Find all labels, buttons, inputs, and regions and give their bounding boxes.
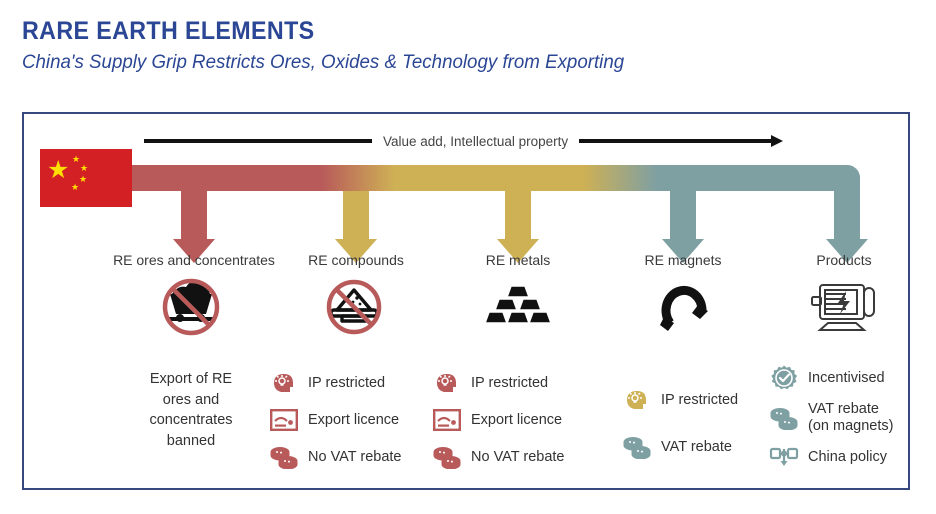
policy-stamp-icon bbox=[769, 443, 799, 471]
detail-item-vat-rebate-magnets: VAT rebate (on magnets) bbox=[769, 401, 893, 434]
check-badge-icon bbox=[769, 364, 799, 392]
detail-label-multiline: VAT rebate (on magnets) bbox=[808, 401, 893, 434]
axis-label: Value add, Intellectual property bbox=[372, 134, 579, 149]
detail-item-china-policy: China policy bbox=[769, 443, 893, 471]
licence-card-icon bbox=[269, 406, 299, 434]
products-detail-column: Incentivised VAT rebate (on magnets) bbox=[769, 364, 893, 480]
detail-label: IP restricted bbox=[308, 375, 385, 392]
flag-star-small-3: ★ bbox=[79, 175, 87, 184]
detail-item-incentivised: Incentivised bbox=[769, 364, 893, 392]
detail-label: No VAT rebate bbox=[471, 449, 565, 466]
detail-item-export-licence: Export licence bbox=[432, 406, 565, 434]
head-lightbulb-icon bbox=[432, 369, 462, 397]
detail-label: Incentivised bbox=[808, 370, 885, 387]
page-title: RARE EARTH ELEMENTS bbox=[22, 18, 850, 44]
stage-label-ores: RE ores and concentrates bbox=[113, 252, 275, 268]
coins-icon bbox=[622, 433, 652, 461]
head-lightbulb-icon bbox=[622, 386, 652, 414]
ores-restriction-line-1: Export of RE bbox=[126, 369, 256, 390]
detail-label: No VAT rebate bbox=[308, 449, 402, 466]
detail-label: VAT rebate bbox=[661, 439, 732, 456]
detail-item-ip-restricted: IP restricted bbox=[269, 369, 402, 397]
flag-star-small-4: ★ bbox=[71, 183, 79, 192]
stage-label-compounds: RE compounds bbox=[308, 252, 404, 268]
detail-item-ip-restricted: IP restricted bbox=[622, 386, 738, 414]
detail-item-no-vat-rebate: No VAT rebate bbox=[432, 443, 565, 471]
value-add-axis: Value add, Intellectual property bbox=[144, 130, 844, 152]
ores-restriction-text: Export of RE ores and concentrates banne… bbox=[126, 369, 256, 451]
coins-icon bbox=[269, 443, 299, 471]
ores-restriction-line-2: ores and bbox=[126, 390, 256, 411]
licence-card-icon bbox=[432, 406, 462, 434]
arrow-right-icon bbox=[771, 135, 783, 147]
flag-star-small-2: ★ bbox=[80, 164, 88, 173]
detail-item-ip-restricted: IP restricted bbox=[432, 369, 565, 397]
coins-icon bbox=[432, 443, 462, 471]
detail-item-export-licence: Export licence bbox=[269, 406, 402, 434]
flag-star-small-1: ★ bbox=[72, 155, 80, 164]
detail-item-no-vat-rebate: No VAT rebate bbox=[269, 443, 402, 471]
detail-label-secondary: (on magnets) bbox=[808, 418, 893, 434]
coins-icon bbox=[769, 404, 799, 432]
detail-label: IP restricted bbox=[471, 375, 548, 392]
magnets-detail-column: IP restricted VAT rebate bbox=[622, 386, 738, 470]
china-flag: ★ ★ ★ ★ ★ bbox=[40, 149, 132, 207]
metals-detail-column: IP restricted Export licence bbox=[432, 369, 565, 480]
axis-line-left bbox=[144, 139, 372, 143]
detail-item-vat-rebate: VAT rebate bbox=[622, 433, 738, 461]
detail-label: IP restricted bbox=[661, 392, 738, 409]
stage-label-metals: RE metals bbox=[486, 252, 551, 268]
ingot-stack-icon bbox=[485, 282, 551, 337]
stage-label-magnets: RE magnets bbox=[644, 252, 721, 268]
detail-label: China policy bbox=[808, 449, 887, 466]
header: RARE EARTH ELEMENTS China's Supply Grip … bbox=[22, 18, 912, 74]
magnet-icon bbox=[654, 277, 714, 338]
stage-label-products: Products bbox=[816, 252, 871, 268]
page-subtitle: China's Supply Grip Restricts Ores, Oxid… bbox=[22, 52, 876, 73]
supply-chain-bar bbox=[132, 165, 860, 191]
ores-restriction-line-4: banned bbox=[126, 431, 256, 452]
compounds-detail-column: IP restricted Export licence bbox=[269, 369, 402, 480]
axis-line-right bbox=[579, 139, 772, 143]
detail-label: VAT rebate bbox=[808, 401, 879, 417]
diagram-panel: Value add, Intellectual property ★ ★ ★ ★… bbox=[22, 112, 910, 490]
ores-restriction-line-3: concentrates bbox=[126, 410, 256, 431]
head-lightbulb-icon bbox=[269, 369, 299, 397]
mine-cart-prohibited-icon bbox=[154, 276, 228, 343]
electric-motor-icon bbox=[806, 279, 882, 338]
flag-star-large: ★ bbox=[47, 158, 69, 183]
powder-pile-prohibited-icon bbox=[317, 276, 391, 343]
detail-label: Export licence bbox=[471, 412, 562, 429]
detail-label: Export licence bbox=[308, 412, 399, 429]
